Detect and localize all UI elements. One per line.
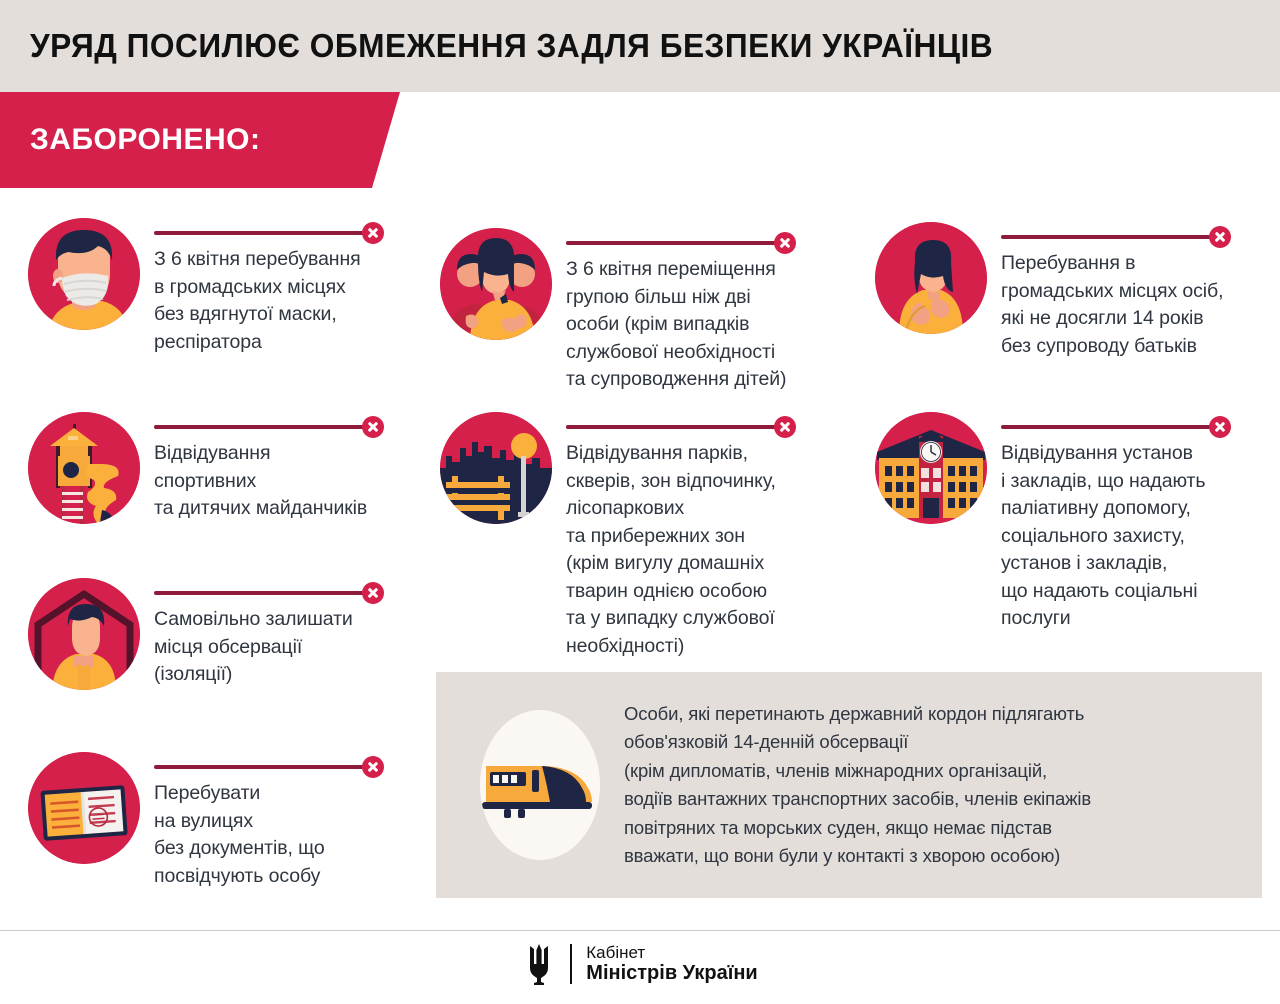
restriction-text: Відвідування спортивних та дитячих майда… — [154, 440, 384, 523]
footer-divider-line — [0, 930, 1280, 931]
restriction-item-group: З 6 квітня переміщення групою більш ніж … — [440, 228, 796, 394]
restriction-item-parks: Відвідування парків, скверів, зон відпоч… — [440, 412, 796, 660]
restriction-item-institutions: Відвідування установ і закладів, що нада… — [875, 412, 1231, 633]
park-bench-lamp-icon — [440, 412, 552, 524]
restriction-item-minor: Перебування в громадських місцях осіб, я… — [875, 222, 1231, 360]
restriction-item-playground: Відвідування спортивних та дитячих майда… — [28, 412, 384, 524]
restriction-text: Перебувати на вулицях без документів, що… — [154, 780, 384, 890]
x-mark-icon — [362, 416, 384, 438]
masked-person-icon — [28, 218, 140, 330]
restriction-item-mask: З 6 квітня перебування в громадських міс… — [28, 218, 384, 356]
border-crossing-note: Особи, які перетинають державний кордон … — [436, 672, 1262, 898]
child-icon — [875, 222, 987, 334]
item-rule — [154, 416, 384, 438]
item-rule — [1001, 416, 1231, 438]
restriction-text: Відвідування парків, скверів, зон відпоч… — [566, 440, 796, 660]
passport-document-icon — [28, 752, 140, 864]
x-mark-icon — [1209, 226, 1231, 248]
note-text: Особи, які перетинають державний кордон … — [624, 700, 1091, 871]
x-mark-icon — [1209, 416, 1231, 438]
footer-line-one: Кабінет — [586, 943, 757, 962]
item-rule — [154, 222, 384, 244]
item-rule — [566, 416, 796, 438]
restriction-text: З 6 квітня перебування в громадських міс… — [154, 246, 384, 356]
playground-icon — [28, 412, 140, 524]
footer-label: Кабінет Міністрів України — [586, 943, 757, 984]
footer-separator — [570, 944, 572, 984]
footer-line-two: Міністрів України — [586, 962, 757, 984]
x-mark-icon — [362, 756, 384, 778]
item-rule — [154, 756, 384, 778]
person-under-roof-icon — [28, 578, 140, 690]
train-icon — [480, 710, 600, 860]
restriction-text: Перебування в громадських місцях осіб, я… — [1001, 250, 1231, 360]
group-of-people-icon — [440, 228, 552, 340]
item-rule — [154, 582, 384, 604]
item-rule — [566, 232, 796, 254]
institution-building-icon — [875, 412, 987, 524]
ukraine-trident-icon — [522, 942, 556, 986]
x-mark-icon — [774, 232, 796, 254]
x-mark-icon — [362, 582, 384, 604]
item-rule — [1001, 226, 1231, 248]
x-mark-icon — [774, 416, 796, 438]
x-mark-icon — [362, 222, 384, 244]
restriction-text: Самовільно залишати місця обсервації (із… — [154, 606, 384, 689]
restriction-text: Відвідування установ і закладів, що нада… — [1001, 440, 1231, 633]
restriction-item-documents: Перебувати на вулицях без документів, що… — [28, 752, 384, 890]
restriction-text: З 6 квітня переміщення групою більш ніж … — [566, 256, 796, 394]
footer: Кабінет Міністрів України — [0, 942, 1280, 986]
restriction-item-observation: Самовільно залишати місця обсервації (із… — [28, 578, 384, 690]
